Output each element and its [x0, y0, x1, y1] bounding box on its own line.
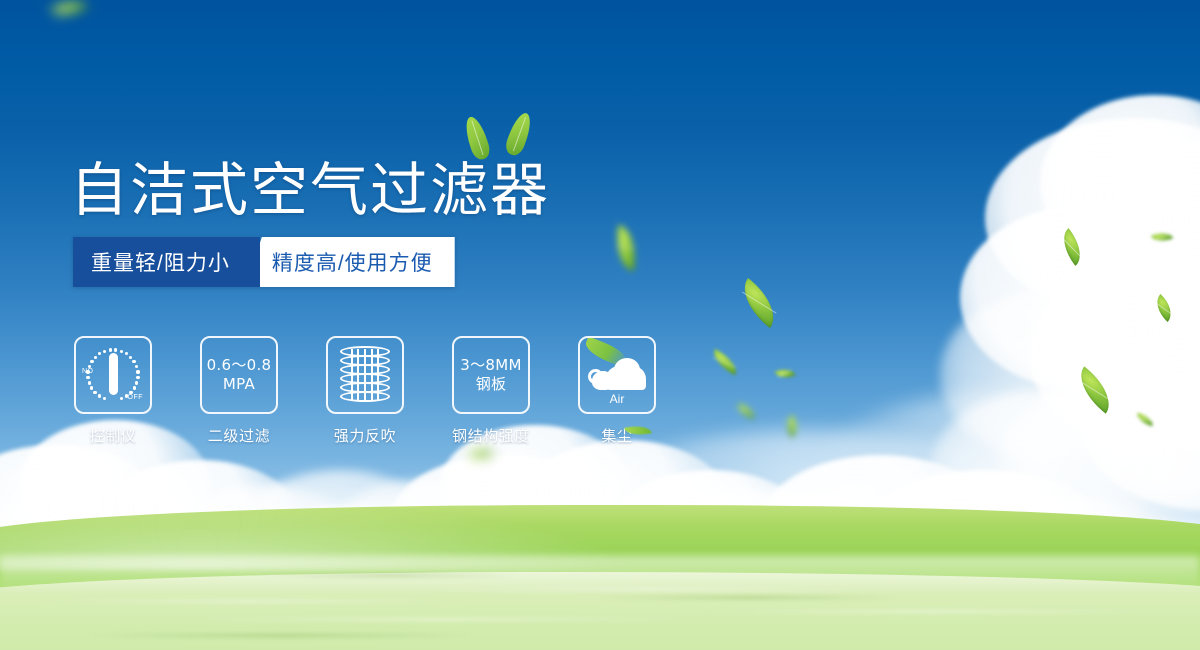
- product-banner: 自洁式空气过滤器 重量轻/阻力小 精度高/使用方便 NO OFF 控制仪 0.6…: [0, 0, 1200, 650]
- gauge-tick: [125, 352, 128, 355]
- feature-label: 钢结构强度: [452, 425, 530, 446]
- feature-icon-box: 0.6〜0.8 MPA: [200, 336, 278, 414]
- grass-streak: [700, 610, 1170, 613]
- grass-streak: [420, 588, 880, 591]
- grass-streak: [600, 596, 900, 599]
- gauge-tick: [120, 397, 123, 400]
- feature-icon-box: NO OFF: [74, 336, 152, 414]
- gauge-tick: [125, 394, 128, 397]
- gauge-tick: [88, 381, 91, 384]
- feature-label: 控制仪: [74, 425, 152, 446]
- gauge-tick: [103, 350, 106, 353]
- gauge-label-off: OFF: [128, 394, 144, 401]
- gauge-tick: [129, 391, 132, 394]
- grass-streak: [40, 600, 460, 603]
- air-cloud-icon: Air: [586, 348, 648, 402]
- feature-icon-box: Air: [578, 336, 656, 414]
- gauge-tick: [136, 370, 139, 373]
- gauge-tick: [98, 352, 101, 355]
- feature-list: NO OFF 控制仪 0.6〜0.8 MPA 二级过滤: [74, 336, 656, 446]
- gauge-tick: [94, 356, 97, 359]
- gauge-tick: [135, 365, 138, 368]
- grass-sheen: [0, 556, 1200, 592]
- feature-item-steel[interactable]: 3〜8MM 钢板 钢结构强度: [452, 336, 530, 446]
- gauge-tick: [114, 348, 117, 351]
- subtitle-left: 重量轻/阻力小: [73, 237, 260, 287]
- gauge-tick: [103, 397, 106, 400]
- feature-item-blowback[interactable]: 强力反吹: [326, 336, 404, 446]
- steel-value-line1: 3〜8MM: [460, 356, 521, 375]
- gauge-tick: [90, 386, 93, 389]
- gauge-tick: [98, 394, 101, 397]
- grass-streak: [180, 618, 700, 621]
- subtitle-right: 精度高/使用方便: [246, 237, 455, 287]
- gauge-needle: [109, 353, 118, 395]
- feature-icon-box: 3〜8MM 钢板: [452, 336, 530, 414]
- subtitle-bar: 重量轻/阻力小 精度高/使用方便: [73, 237, 455, 287]
- steel-value-line2: 钢板: [476, 375, 507, 394]
- grass-streak: [260, 574, 520, 577]
- filter-stack-icon: [340, 346, 390, 404]
- grass-streak: [90, 634, 470, 637]
- pressure-value-line1: 0.6〜0.8: [207, 356, 272, 375]
- feature-item-pressure[interactable]: 0.6〜0.8 MPA 二级过滤: [200, 336, 278, 446]
- gauge-tick: [135, 381, 138, 384]
- gauge-tick: [90, 360, 93, 363]
- gauge-tick: [133, 386, 136, 389]
- gauge-tick: [132, 360, 135, 363]
- feature-label: 强力反吹: [326, 425, 404, 446]
- gauge-tick: [136, 376, 139, 379]
- page-title: 自洁式空气过滤器: [70, 143, 550, 227]
- air-label: Air: [586, 392, 648, 406]
- gauge-tick: [86, 370, 89, 373]
- gauge-tick: [109, 348, 112, 351]
- gauge-tick: [86, 376, 89, 379]
- feature-label: 二级过滤: [200, 425, 278, 446]
- gauge-tick: [129, 356, 132, 359]
- gauge-tick: [120, 350, 123, 353]
- feature-icon-box: [326, 336, 404, 414]
- feature-item-control[interactable]: NO OFF 控制仪: [74, 336, 152, 446]
- gauge-icon: NO OFF: [81, 344, 145, 406]
- gauge-tick: [93, 391, 96, 394]
- pressure-value-line2: MPA: [223, 375, 255, 394]
